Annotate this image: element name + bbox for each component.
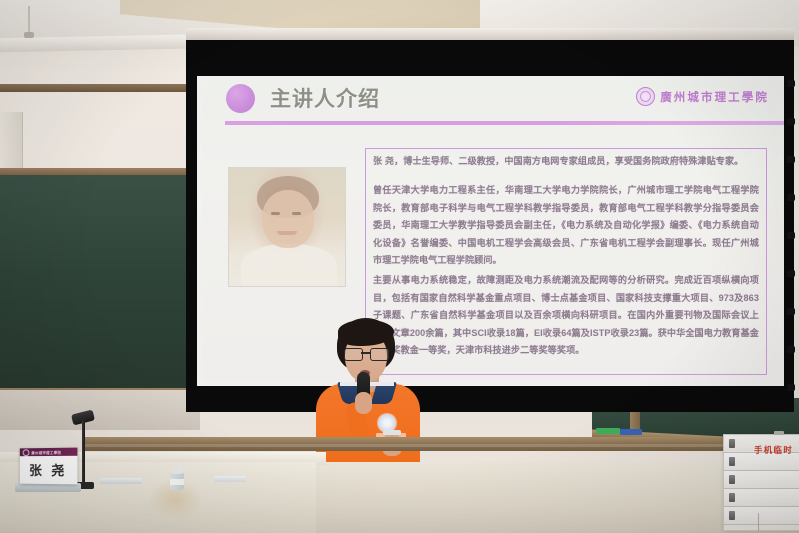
ceiling-rod-knob xyxy=(24,32,34,38)
presenter-eyeglass-left xyxy=(344,348,363,361)
screen-edge-notch xyxy=(787,80,795,87)
microphone-stand-pole xyxy=(82,420,85,486)
chalk-green xyxy=(596,428,620,434)
screen-edge-notch xyxy=(787,118,795,125)
screen-edge-notch xyxy=(787,270,795,277)
university-seal-icon xyxy=(636,87,655,106)
chalk-blue xyxy=(620,429,642,435)
presenter-eyeglass-right xyxy=(370,348,389,361)
speaker-namecard: 廣州城市理工學院 张 尧 xyxy=(20,448,78,485)
namecard-name-text: 张 尧 xyxy=(20,460,78,479)
screen-edge-notch xyxy=(787,384,795,391)
pocket-chart-title: 手机临时 xyxy=(754,444,793,456)
phone-storage-pocket-chart: 手机临时 xyxy=(723,434,799,531)
screen-edge-notch xyxy=(787,156,795,163)
pocket-chart-clip xyxy=(729,493,735,502)
slide-title: 主讲人介绍 xyxy=(270,83,380,113)
pocket-chart-row xyxy=(724,507,799,525)
screen-edge-notch xyxy=(787,346,795,353)
portrait-face xyxy=(262,190,314,248)
desk-glass-plate-2 xyxy=(214,476,246,482)
presenter-eyeglass-bridge xyxy=(361,352,370,354)
header-bullet-circle-icon xyxy=(226,84,255,113)
water-bottle-cap xyxy=(172,467,182,474)
pocket-chart-clip xyxy=(729,439,735,448)
wall-rail-highlight xyxy=(84,444,799,447)
slide-header: 主讲人介绍 廣州城市理工學院 xyxy=(197,76,784,118)
namecard-holder xyxy=(15,483,81,492)
screen-edge-notch xyxy=(787,308,795,315)
pocket-chart-row xyxy=(724,471,799,489)
pocket-chart-clip xyxy=(729,475,735,484)
wall-strip-left xyxy=(0,390,200,430)
slide-header-divider xyxy=(225,121,784,125)
namecard-header-bar: 廣州城市理工學院 xyxy=(20,448,78,457)
bio-paragraph-2: 曾任天津大学电力工程系主任，华南理工大学电力学院院长，广州城市理工学院电气工程学… xyxy=(373,182,759,269)
university-logo: 廣州城市理工學院 xyxy=(636,87,769,106)
pocket-chart-string xyxy=(758,513,759,531)
pocket-chart-clip xyxy=(729,511,735,520)
screenshot-stage: 主讲人介绍 廣州城市理工學院 张 尧，博士生导师、二级教授，中国南方电网专家组成… xyxy=(0,0,799,533)
pocket-chart-row xyxy=(724,489,799,507)
bio-paragraph-1: 张 尧，博士生导师、二级教授，中国南方电网专家组成员，享受国务院政府特殊津贴专家… xyxy=(373,153,759,170)
wall-cabinet-left xyxy=(0,112,23,176)
pocket-chart-clip xyxy=(729,457,735,466)
portrait-mouth xyxy=(277,231,297,235)
screen-edge-notch xyxy=(787,194,795,201)
portrait-eye-left xyxy=(271,212,280,215)
namecard-seal-icon xyxy=(23,449,30,456)
water-bottle-label xyxy=(170,479,184,485)
desk-glass-plate xyxy=(100,478,142,484)
namecard-logo-text: 廣州城市理工學院 xyxy=(31,449,61,454)
wall-rail-upper-left xyxy=(0,84,200,92)
presenter-hand-left xyxy=(355,392,372,414)
portrait-body xyxy=(241,244,337,286)
speaker-portrait-photo xyxy=(229,168,345,286)
screen-edge-notch xyxy=(787,232,795,239)
portrait-eye-right xyxy=(292,212,301,215)
presenter-wristwatch xyxy=(383,430,401,435)
blackboard-left xyxy=(0,175,194,390)
presentation-slide: 主讲人介绍 廣州城市理工學院 张 尧，博士生导师、二级教授，中国南方电网专家组成… xyxy=(197,76,784,386)
university-logo-text: 廣州城市理工學院 xyxy=(660,89,769,105)
